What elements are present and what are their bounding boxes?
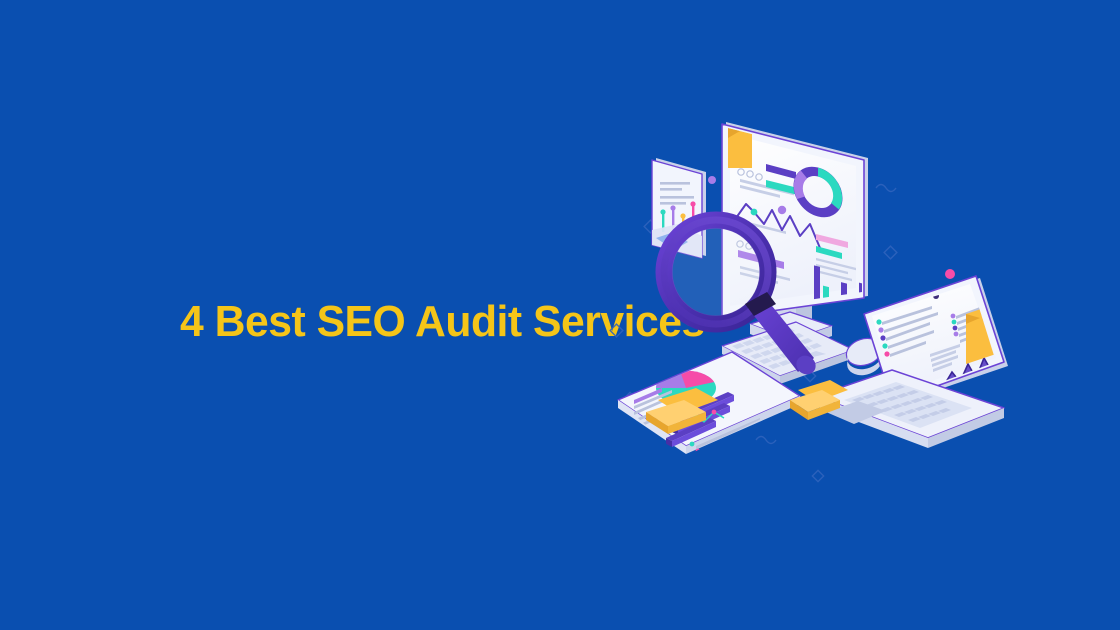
laptop [816,276,1008,448]
diamond-3 [884,246,897,259]
seo-audit-illustration [600,100,1020,500]
dot-pink-icon [945,269,955,279]
banner-root: 4 Best SEO Audit Services [0,0,1120,630]
diamond-2 [610,324,623,337]
diamond-5 [812,470,823,481]
dot-purple-icon [708,176,716,184]
monitor-folder-tab [728,128,752,168]
squiggle-2 [876,185,896,192]
squiggle-4 [756,437,776,444]
